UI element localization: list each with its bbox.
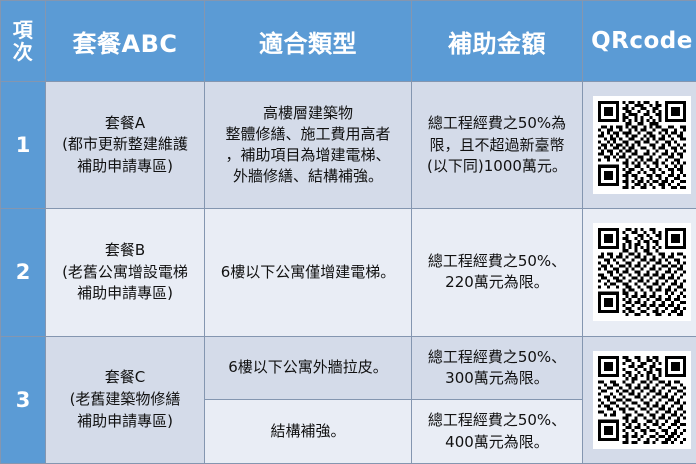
package-line: 補助申請專區) [46,156,204,178]
row-qrcode-1[interactable] [583,82,696,209]
table-body: 1 套餐A (都市更新整建維護 補助申請專區) 高樓層建築物 整體修繕、施工費用… [1,82,696,464]
column-header-qrcode: QRcode [583,1,696,82]
package-line: 補助申請專區) [46,411,204,433]
type-line: 結構補強。 [205,421,411,442]
row-index-1: 1 [1,82,46,209]
package-line: 套餐B [46,240,204,262]
qr-code-icon[interactable] [593,223,691,321]
table-header: 項 次 套餐ABC 適合類型 補助金額 QRcode [1,1,696,82]
column-header-type: 適合類型 [205,1,412,82]
amount-line: 220萬元為限。 [412,272,582,293]
row-type-3a: 6樓以下公寓外牆拉皮。 [205,336,412,400]
row-type-3b: 結構補強。 [205,400,412,464]
amount-line: (以下同)1000萬元。 [412,156,582,177]
amount-line: 300萬元為限。 [412,368,582,389]
package-line: 套餐C [46,367,204,389]
type-line: 外牆修繕、結構補強。 [205,166,411,187]
type-line: ，補助項目為增建電梯、 [205,145,411,166]
row-package-1: 套餐A (都市更新整建維護 補助申請專區) [46,82,205,209]
row-amount-2: 總工程經費之50%、 220萬元為限。 [412,209,583,336]
row-index-3: 3 [1,336,46,463]
amount-line: 總工程經費之50%、 [412,251,582,272]
amount-line: 總工程經費之50%、 [412,347,582,368]
row-package-3: 套餐C (老舊建築物修繕 補助申請專區) [46,336,205,463]
package-line: (都市更新整建維護 [46,134,204,156]
column-header-index-line2: 次 [1,41,45,63]
package-line: 套餐A [46,113,204,135]
column-header-package: 套餐ABC [46,1,205,82]
package-line: (老舊建築物修繕 [46,389,204,411]
column-header-amount: 補助金額 [412,1,583,82]
type-line: 整體修繕、施工費用高者 [205,124,411,145]
row-qrcode-3[interactable] [583,336,696,463]
qr-code-icon[interactable] [593,96,691,194]
subsidy-package-table: 項 次 套餐ABC 適合類型 補助金額 QRcode 1 套餐A (都市更新整建… [0,0,696,464]
row-package-2: 套餐B (老舊公寓增設電梯 補助申請專區) [46,209,205,336]
column-header-index-line1: 項 [1,19,45,41]
qr-code-icon[interactable] [593,351,691,449]
row-amount-3a: 總工程經費之50%、 300萬元為限。 [412,336,583,400]
row-qrcode-2[interactable] [583,209,696,336]
row-type-2: 6樓以下公寓僅增建電梯。 [205,209,412,336]
type-line: 高樓層建築物 [205,103,411,124]
table-row: 3 套餐C (老舊建築物修繕 補助申請專區) 6樓以下公寓外牆拉皮。 總工程經費… [1,336,696,400]
package-line: (老舊公寓增設電梯 [46,262,204,284]
column-header-index: 項 次 [1,1,46,82]
row-index-2: 2 [1,209,46,336]
table-row: 2 套餐B (老舊公寓增設電梯 補助申請專區) 6樓以下公寓僅增建電梯。 總工程… [1,209,696,336]
amount-line: 400萬元為限。 [412,432,582,453]
package-line: 補助申請專區) [46,283,204,305]
amount-line: 限，且不超過新臺幣 [412,135,582,156]
row-type-1: 高樓層建築物 整體修繕、施工費用高者 ，補助項目為增建電梯、 外牆修繕、結構補強… [205,82,412,209]
amount-line: 總工程經費之50%為 [412,113,582,134]
row-amount-3b: 總工程經費之50%、 400萬元為限。 [412,400,583,464]
amount-line: 總工程經費之50%、 [412,410,582,431]
type-line: 6樓以下公寓外牆拉皮。 [205,357,411,378]
subsidy-table-container: 項 次 套餐ABC 適合類型 補助金額 QRcode 1 套餐A (都市更新整建… [0,0,696,464]
table-row: 1 套餐A (都市更新整建維護 補助申請專區) 高樓層建築物 整體修繕、施工費用… [1,82,696,209]
header-row: 項 次 套餐ABC 適合類型 補助金額 QRcode [1,1,696,82]
type-line: 6樓以下公寓僅增建電梯。 [205,262,411,283]
row-amount-1: 總工程經費之50%為 限，且不超過新臺幣 (以下同)1000萬元。 [412,82,583,209]
